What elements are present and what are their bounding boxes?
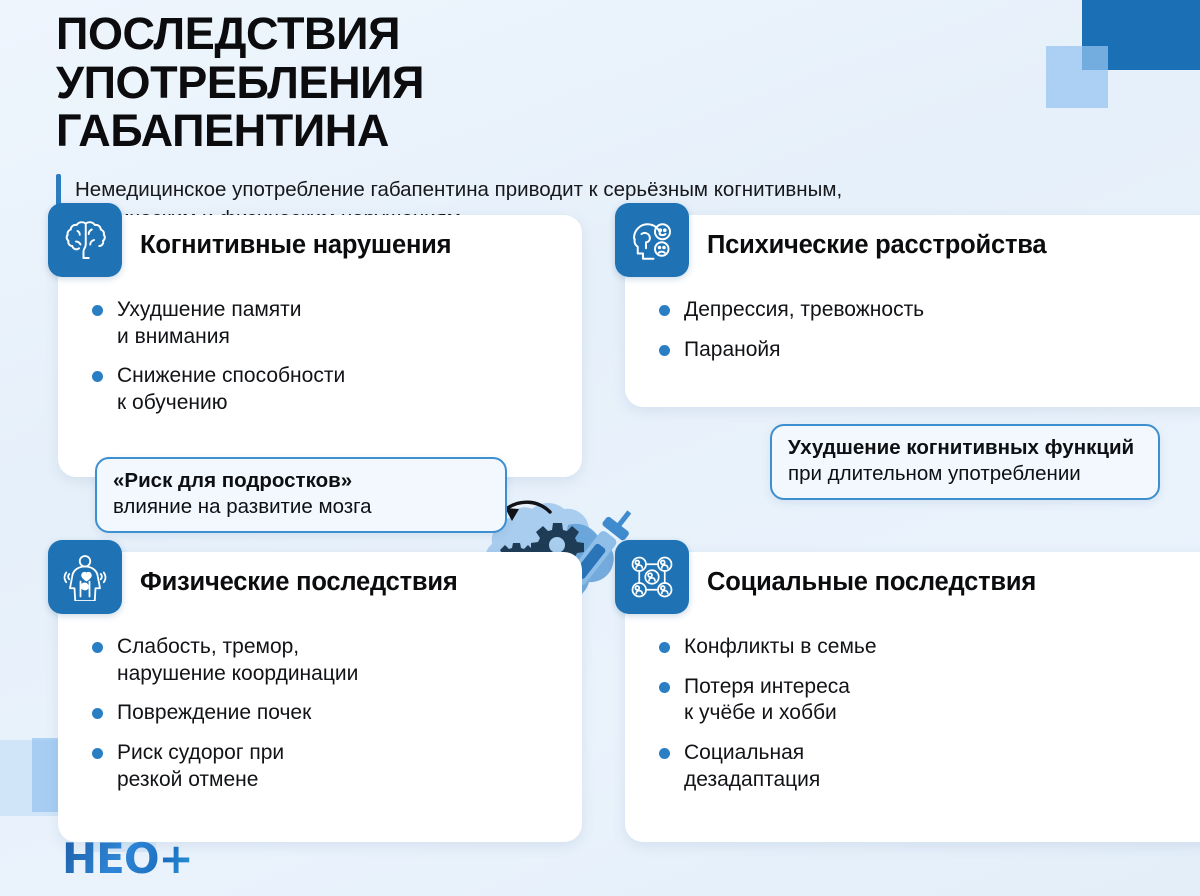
bullet-text-line: Социальная дезадаптация: [684, 741, 820, 791]
page-title: ПОСЛЕДСТВИЯ УПОТРЕБЛЕНИЯ ГАБАПЕНТИНА: [56, 10, 756, 156]
callout-strong-text: «Риск для подростков»: [113, 469, 352, 492]
list-item: Депрессия, тревожность: [655, 297, 924, 324]
bullet-list: Конфликты в семье Потеря интереса к учёб…: [655, 634, 877, 806]
brain-icon: [48, 203, 122, 277]
callout-text: Ухудшение когнитивных функций при длител…: [788, 435, 1142, 487]
callout-rest-text: влияние на развитие мозга: [113, 495, 372, 518]
list-item: Снижение способности к обучению: [88, 363, 345, 416]
list-item: Конфликты в семье: [655, 634, 877, 661]
bullet-text-line: Слабость, тремор, нарушение координации: [117, 635, 358, 685]
bullet-list: Депрессия, тревожность Паранойя: [655, 297, 924, 376]
card-mental: Психические расстройства Депрессия, трев…: [625, 215, 1200, 407]
list-item: Паранойя: [655, 337, 924, 364]
card-title: Когнитивные нарушения: [140, 231, 451, 260]
list-item: Повреждение почек: [88, 700, 358, 727]
bullet-text-line: Конфликты в семье: [684, 635, 877, 658]
callout-long-term-cognition: Ухудшение когнитивных функций при длител…: [770, 424, 1160, 500]
card-cognitive: Когнитивные нарушения: [58, 215, 582, 477]
list-item: Ухудшение памяти и внимания: [88, 297, 345, 350]
list-item: Слабость, тремор, нарушение координации: [88, 634, 358, 687]
bullet-text-line: Потеря интереса к учёбе и хобби: [684, 675, 850, 725]
bullet-text-line: Повреждение почек: [117, 701, 311, 724]
bullet-text-line: Паранойя: [684, 338, 781, 361]
social-network-icon: [615, 540, 689, 614]
callout-line-rest: влияние на развитие мозга: [113, 494, 489, 520]
callout-rest-text: при длительном употреблении: [788, 462, 1081, 485]
card-title: Психические расстройства: [707, 231, 1046, 260]
brand-logo: НЕО+: [62, 838, 193, 880]
header: ПОСЛЕДСТВИЯ УПОТРЕБЛЕНИЯ ГАБАПЕНТИНА Нем…: [56, 10, 1056, 233]
infographic-canvas: ПОСЛЕДСТВИЯ УПОТРЕБЛЕНИЯ ГАБАПЕНТИНА Нем…: [0, 0, 1200, 896]
bullet-text-line: Риск судорог при резкой отмене: [117, 741, 284, 791]
bullet-text-line: Ухудшение памяти и внимания: [117, 298, 302, 348]
list-item: Риск судорог при резкой отмене: [88, 740, 358, 793]
head-emotions-icon: [615, 203, 689, 277]
bullet-list: Ухудшение памяти и внимания Снижение спо…: [88, 297, 345, 430]
callout-line-strong: «Риск для подростков»: [113, 468, 489, 494]
callout-strong-text: Ухудшение когнитивных функций: [788, 436, 1134, 459]
card-social: Социальные последствия: [625, 552, 1200, 842]
card-physical: Физические последствия Слабость, тремор,…: [58, 552, 582, 842]
bullet-list: Слабость, тремор, нарушение координации …: [88, 634, 358, 806]
list-item: Потеря интереса к учёбе и хобби: [655, 674, 877, 727]
callout-teens-risk: «Риск для подростков» влияние на развити…: [95, 457, 507, 533]
list-item: Социальная дезадаптация: [655, 740, 877, 793]
card-title: Социальные последствия: [707, 568, 1036, 597]
card-title: Физические последствия: [140, 568, 458, 597]
bullet-text-line: Снижение способности к обучению: [117, 364, 345, 414]
body-organs-icon: [48, 540, 122, 614]
bullet-text-line: Депрессия, тревожность: [684, 298, 924, 321]
